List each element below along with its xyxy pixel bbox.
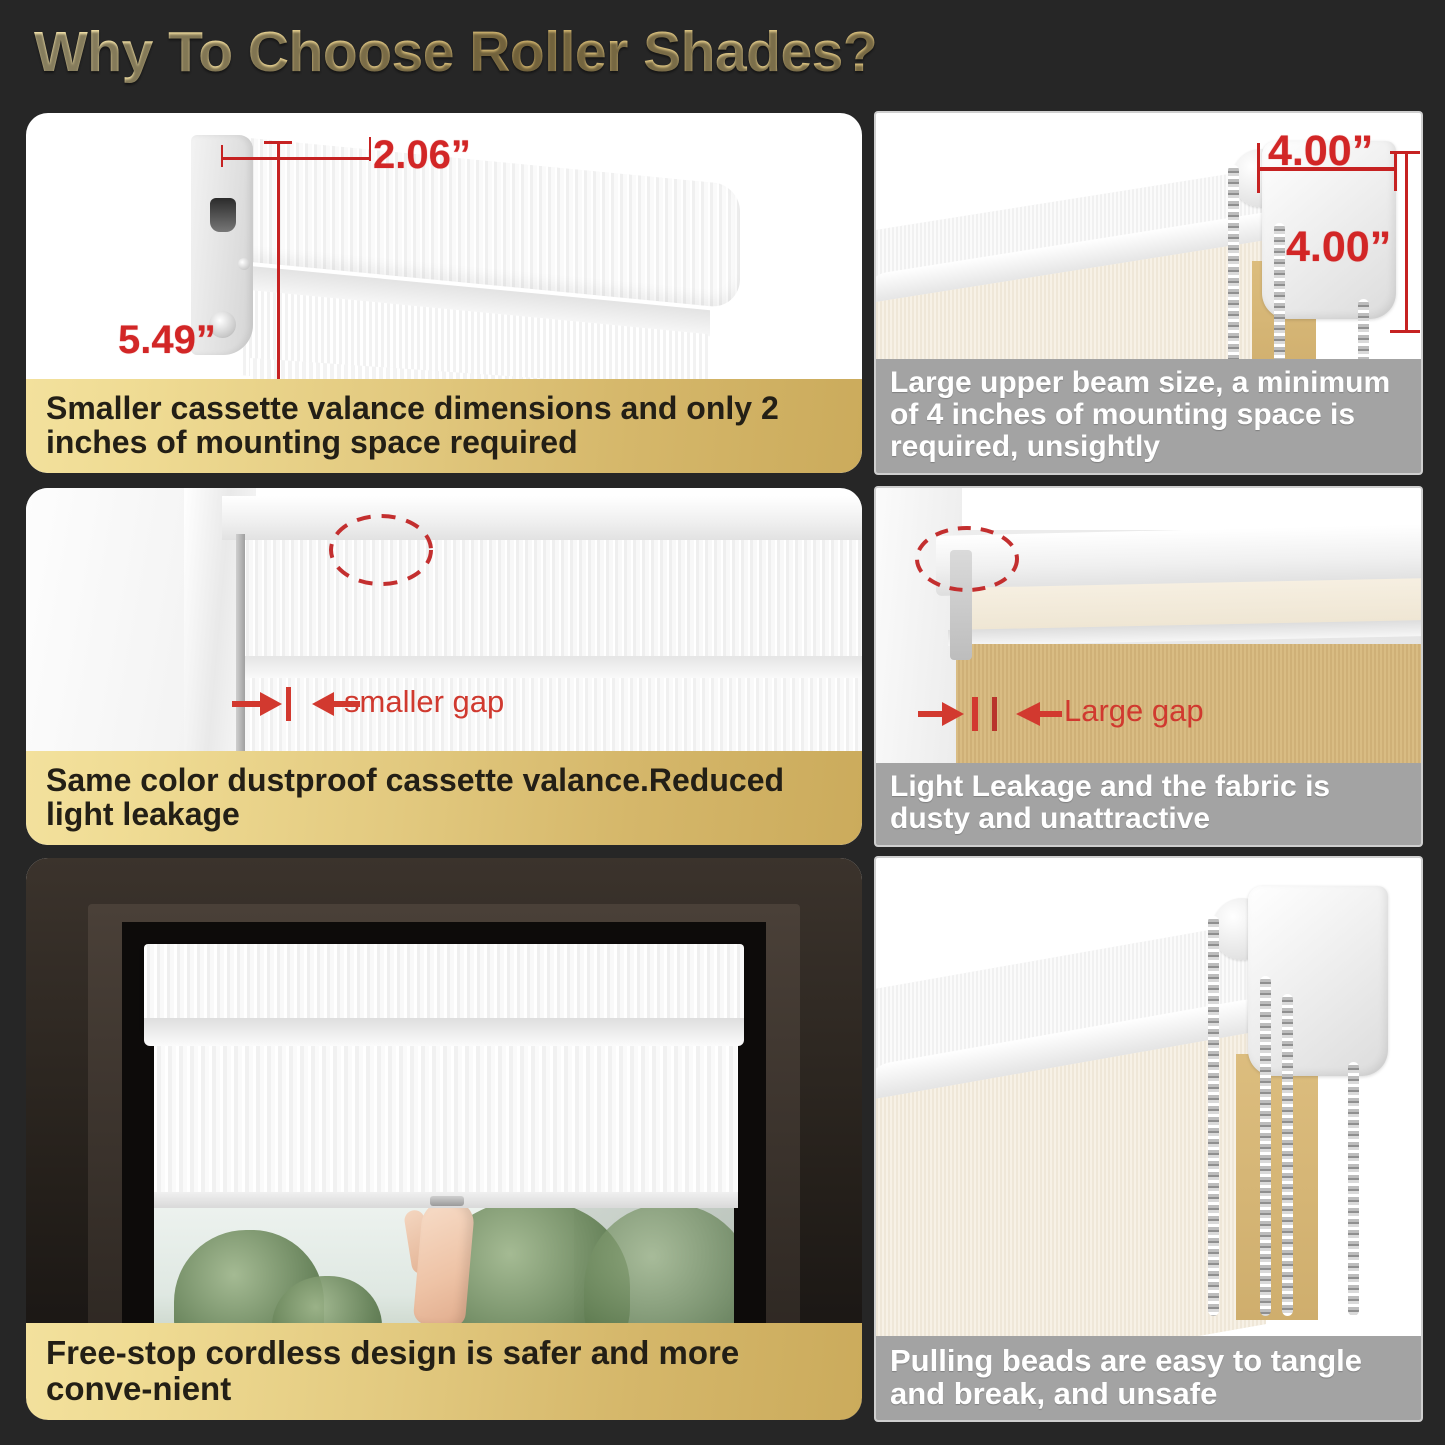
bead-chain-mid-2 <box>1282 994 1293 1316</box>
beam-width-label: 4.00” <box>1268 127 1373 176</box>
highlight-circle-icon <box>326 510 436 590</box>
header-bar: Why To Choose Roller Shades? <box>0 0 1445 104</box>
bracket-screw-icon <box>238 258 250 270</box>
beam-height-label: 4.00” <box>1286 223 1391 272</box>
width-tick-left <box>221 145 223 167</box>
bead-chain-left <box>1208 916 1219 1316</box>
beam-width-tick-right <box>1394 151 1397 191</box>
height-tick-top <box>264 141 292 144</box>
panel-caption: Large upper beam size, a minimum of 4 in… <box>876 359 1421 473</box>
highlight-circle-icon <box>912 522 1022 596</box>
hand-pulling-shade <box>413 1198 476 1328</box>
bracket-slot-icon <box>210 198 236 232</box>
tan-fabric <box>1236 1054 1318 1320</box>
bead-chain-mid <box>1274 223 1285 377</box>
panel-caption: Pulling beads are easy to tangle and bre… <box>876 1336 1421 1420</box>
cassette-valance-lip <box>144 1018 744 1046</box>
panel-caption: Same color dustproof cassette valance.Re… <box>26 751 862 845</box>
beam-height-tick-top <box>1390 151 1420 154</box>
bead-chain-left <box>1228 165 1239 377</box>
large-gap-label: Large gap <box>1064 693 1204 729</box>
panel-caption: Free-stop cordless design is safer and m… <box>26 1323 862 1420</box>
width-tick-right <box>369 137 371 161</box>
smaller-gap-label: smaller gap <box>344 684 504 720</box>
panel-good-cassette: 2.06” 5.49” Smaller cassette valance dim… <box>26 113 862 473</box>
page-title: Why To Choose Roller Shades? <box>34 19 877 85</box>
shade-fabric <box>154 1044 738 1204</box>
panel-bad-beam: 4.00” 4.00” Large upper beam size, a min… <box>876 113 1421 473</box>
width-dimension-label: 2.06” <box>373 133 471 178</box>
height-dimension-label: 5.49” <box>118 318 216 363</box>
panel-bad-leakage: Large gap Light Leakage and the fabric i… <box>876 488 1421 845</box>
beam-height-dim-line <box>1405 151 1408 333</box>
panel-good-dustproof: smaller gap Same color dustproof cassett… <box>26 488 862 845</box>
beam-height-tick-bottom <box>1390 330 1420 333</box>
panel-caption: Light Leakage and the fabric is dusty an… <box>876 763 1421 845</box>
shade-mid-rail <box>240 656 862 680</box>
panel-bad-beads: Pulling beads are easy to tangle and bre… <box>876 858 1421 1420</box>
shade-grip-handle[interactable] <box>430 1196 464 1206</box>
bead-chain-right <box>1348 1062 1359 1316</box>
bead-chain-mid <box>1260 976 1271 1316</box>
cassette-head-rail <box>222 496 862 540</box>
shade-side-edge <box>236 534 245 778</box>
window-frame-left <box>26 488 201 778</box>
width-dim-line <box>221 157 371 160</box>
panel-caption: Smaller cassette valance dimensions and … <box>26 379 862 473</box>
panel-good-cordless: Free-stop cordless design is safer and m… <box>26 858 862 1420</box>
